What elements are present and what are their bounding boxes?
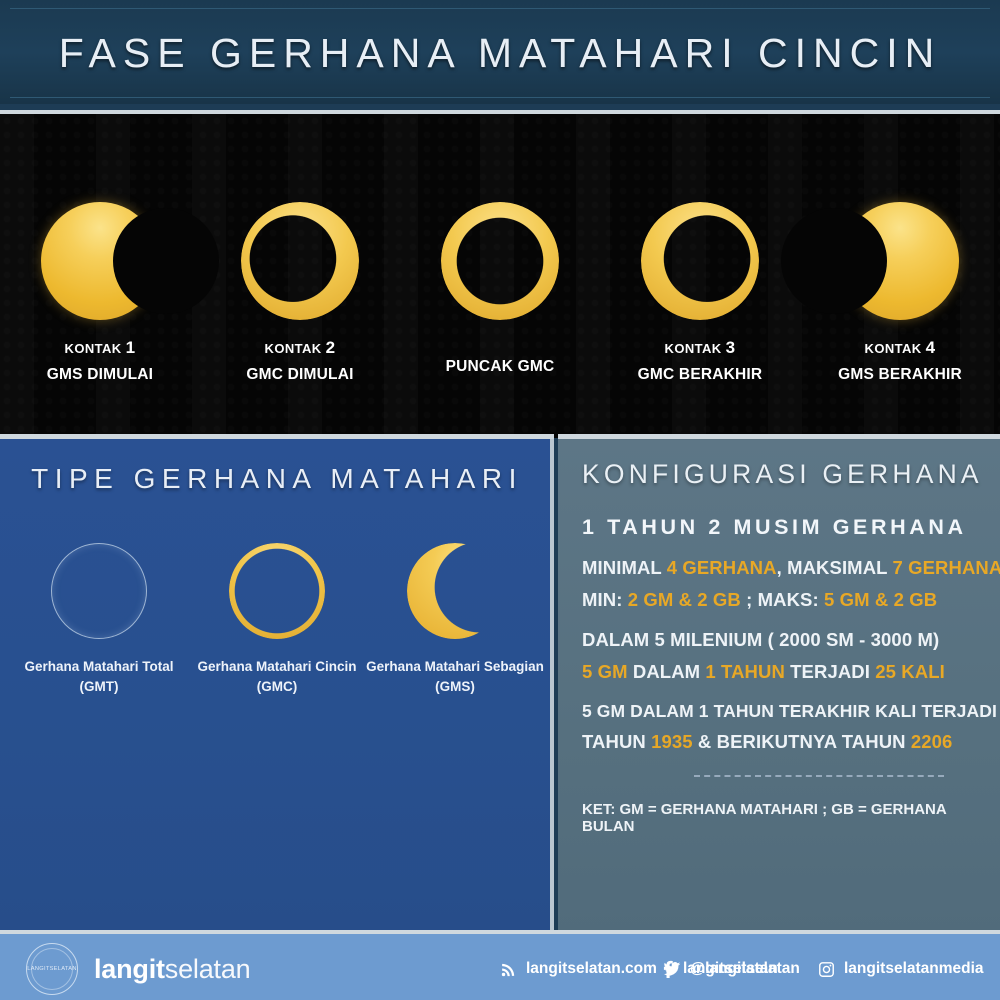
footer-instagram-link[interactable]: langitselatanmedia <box>818 960 984 978</box>
konfigurasi-line-5: 5 GM DALAM 1 TAHUN TERAKHIR KALI TERJADI <box>582 701 997 722</box>
phase-kontak-number: 1 <box>126 338 136 357</box>
phase-caption: KONTAK 4 GMS BERAKHIR <box>838 336 962 386</box>
website-label: langitselatan.com <box>526 960 657 978</box>
phase-kontak-label: KONTAK <box>665 341 722 356</box>
line2-b: ; MAKS: <box>741 589 824 610</box>
sun-bite-right-icon <box>41 202 159 320</box>
line6-b: & BERIKUTNYA TAHUN <box>693 731 911 752</box>
phase-desc: GMS BERAKHIR <box>838 364 962 386</box>
phase-item: PUNCAK GMC <box>400 114 600 438</box>
phase-item: KONTAK 4 GMS BERAKHIR <box>800 114 1000 438</box>
konfigurasi-line-4: 5 GM DALAM 1 TAHUN TERJADI 25 KALI <box>582 661 945 683</box>
konfigurasi-line-1: MINIMAL 4 GERHANA, MAKSIMAL 7 GERHANA <box>582 557 1000 579</box>
rss-icon <box>500 961 517 978</box>
header-banner: FASE GERHANA MATAHARI CINCIN <box>0 0 1000 104</box>
phase-desc: PUNCAK GMC <box>446 356 555 378</box>
eclipse-type-item: Gerhana Matahari Cincin (GMC) <box>188 543 366 698</box>
konfigurasi-line-6: TAHUN 1935 & BERIKUTNYA TAHUN 2206 <box>582 731 952 753</box>
eclipse-type-abbr: (GMC) <box>197 677 356 697</box>
brand-lockup: LANGITSELATAN langitselatan <box>26 943 250 995</box>
konfigurasi-gerhana-panel: KONFIGURASI GERHANA 1 TAHUN 2 MUSIM GERH… <box>558 434 1000 935</box>
phase-kontak-label: KONTAK <box>865 341 922 356</box>
annular-ring <box>441 202 559 320</box>
eclipse-phases-section: KONTAK 1 GMS DIMULAI KONTAK 2 GMC DIMULA… <box>0 110 1000 438</box>
brand-light: selatan <box>165 954 251 984</box>
moon-bite <box>113 208 219 314</box>
infographic-page: FASE GERHANA MATAHARI CINCIN KONTAK 1 GM… <box>0 0 1000 1000</box>
eclipse-type-caption: Gerhana Matahari Total (GMT) <box>24 657 173 698</box>
line4-b: TERJADI <box>785 661 875 682</box>
phase-kontak-number: 2 <box>326 338 336 357</box>
tipe-gerhana-panel: TIPE GERHANA MATAHARI Gerhana Matahari T… <box>0 434 554 935</box>
konfigurasi-line-3: DALAM 5 MILENIUM ( 2000 SM - 3000 M) <box>582 629 939 651</box>
phase-row: KONTAK 1 GMS DIMULAI KONTAK 2 GMC DIMULA… <box>0 114 1000 438</box>
facebook-label: langitselatan <box>683 960 778 978</box>
line1-a: MINIMAL <box>582 557 667 578</box>
brand-name: langitselatan <box>94 954 250 985</box>
phase-kontak-label: KONTAK <box>265 341 322 356</box>
phase-caption: KONTAK 2 GMC DIMULAI <box>246 336 353 386</box>
eclipse-type-name: Gerhana Matahari Sebagian <box>366 657 544 677</box>
eclipse-types-row: Gerhana Matahari Total (GMT) Gerhana Mat… <box>10 543 544 698</box>
phase-desc: GMC BERAKHIR <box>638 364 763 386</box>
line6-hi1: 1935 <box>651 731 693 752</box>
line1-hi1: 4 GERHANA <box>667 557 777 578</box>
phase-kontak-number: 4 <box>926 338 936 357</box>
eclipse-type-item: Gerhana Matahari Total (GMT) <box>10 543 188 698</box>
footer-bar: LANGITSELATAN langitselatan langitselata… <box>0 930 1000 1000</box>
phase-kontak-label: KONTAK <box>65 341 122 356</box>
footer-facebook-link[interactable]: langitselatan <box>662 960 778 978</box>
konfigurasi-panel-title: KONFIGURASI GERHANA <box>582 459 983 490</box>
page-title: FASE GERHANA MATAHARI CINCIN <box>59 30 941 77</box>
ring-thick-right-icon <box>241 202 359 320</box>
line2-hi1: 2 GM & 2 GB <box>628 589 741 610</box>
phase-kontak-number: 3 <box>726 338 736 357</box>
footer-website-link[interactable]: langitselatan.com <box>500 960 657 978</box>
line2-a: MIN: <box>582 589 628 610</box>
eclipse-type-caption: Gerhana Matahari Cincin (GMC) <box>197 657 356 698</box>
phase-item: KONTAK 2 GMC DIMULAI <box>200 114 400 438</box>
keterangan-legend: KET: GM = GERHANA MATAHARI ; GB = GERHAN… <box>582 801 1000 835</box>
total-eclipse-icon <box>51 543 147 639</box>
instagram-icon <box>818 961 835 978</box>
line4-a: DALAM <box>628 661 706 682</box>
phase-item: KONTAK 1 GMS DIMULAI <box>0 114 200 438</box>
brand-bold: langit <box>94 954 165 984</box>
line6-hi2: 2206 <box>911 731 953 752</box>
eclipse-type-abbr: (GMS) <box>366 677 544 697</box>
phase-item: KONTAK 3 GMC BERAKHIR <box>600 114 800 438</box>
eclipse-type-abbr: (GMT) <box>24 677 173 697</box>
phase-desc: GMC DIMULAI <box>246 364 353 386</box>
line6-a: TAHUN <box>582 731 651 752</box>
phase-caption: PUNCAK GMC <box>446 353 555 378</box>
konfigurasi-line-2: MIN: 2 GM & 2 GB ; MAKS: 5 GM & 2 GB <box>582 589 937 611</box>
ring-thick-left-icon <box>641 202 759 320</box>
line4-hi1: 5 GM <box>582 661 628 682</box>
annular-ring <box>641 202 759 320</box>
annular-ring <box>241 202 359 320</box>
middle-section: TIPE GERHANA MATAHARI Gerhana Matahari T… <box>0 434 1000 930</box>
langitselatan-seal-logo: LANGITSELATAN <box>26 943 78 995</box>
header-inner-frame: FASE GERHANA MATAHARI CINCIN <box>10 8 990 98</box>
partial-eclipse-icon <box>407 543 503 639</box>
annular-eclipse-icon <box>229 543 325 639</box>
tipe-panel-title: TIPE GERHANA MATAHARI <box>0 463 554 495</box>
phase-caption: KONTAK 1 GMS DIMULAI <box>47 336 153 386</box>
line4-hi3: 25 KALI <box>875 661 945 682</box>
facebook-icon <box>662 960 674 978</box>
ring-even-icon <box>441 202 559 320</box>
line1-b: , MAKSIMAL <box>777 557 893 578</box>
divider-dashed <box>694 775 944 777</box>
seal-label: LANGITSELATAN <box>27 966 76 972</box>
sun-bite-left-icon <box>841 202 959 320</box>
line2-hi2: 5 GM & 2 GB <box>824 589 937 610</box>
line1-hi2: 7 GERHANA <box>892 557 1000 578</box>
phase-desc: GMS DIMULAI <box>47 364 153 386</box>
phase-caption: KONTAK 3 GMC BERAKHIR <box>638 336 763 386</box>
eclipse-type-name: Gerhana Matahari Cincin <box>197 657 356 677</box>
moon-bite <box>781 208 887 314</box>
instagram-label: langitselatanmedia <box>844 960 984 978</box>
eclipse-type-name: Gerhana Matahari Total <box>24 657 173 677</box>
eclipse-type-caption: Gerhana Matahari Sebagian (GMS) <box>366 657 544 698</box>
line4-hi2: 1 TAHUN <box>705 661 785 682</box>
konfigurasi-subtitle: 1 TAHUN 2 MUSIM GERHANA <box>582 515 967 540</box>
eclipse-type-item: Gerhana Matahari Sebagian (GMS) <box>366 543 544 698</box>
